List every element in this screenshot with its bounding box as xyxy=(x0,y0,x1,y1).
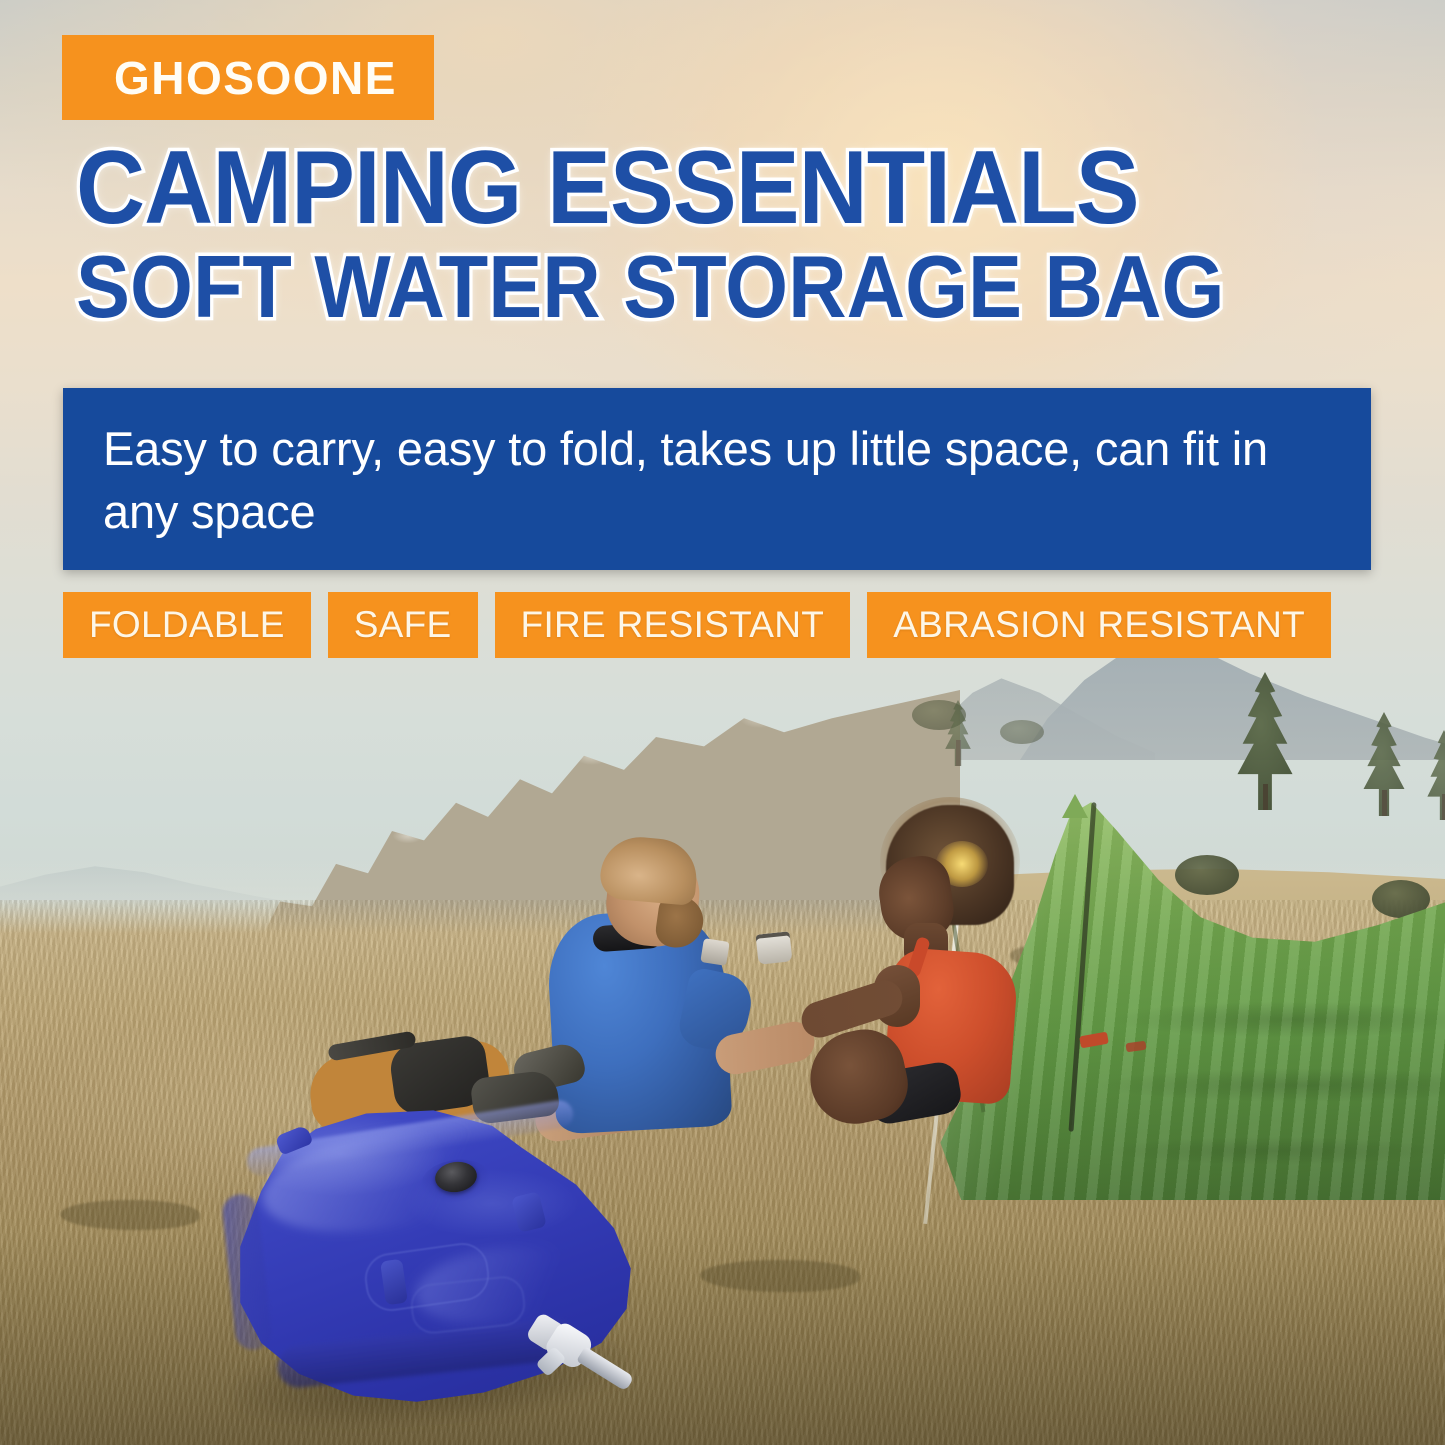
feature-tag-foldable: FOLDABLE xyxy=(63,592,311,658)
shrub xyxy=(1000,720,1044,744)
pine-trunk xyxy=(956,740,961,766)
camper-man xyxy=(545,840,755,1130)
page-title: CAMPING ESSENTIALS SOFT WATER STORAGE BA… xyxy=(76,140,1396,328)
feature-tag-label: FOLDABLE xyxy=(89,604,285,646)
feature-tag-label: ABRASION RESISTANT xyxy=(893,604,1305,646)
headline-line-2: SOFT WATER STORAGE BAG xyxy=(76,246,1290,329)
tent-apex xyxy=(1062,794,1088,818)
feature-tag-abrasion-resistant: ABRASION RESISTANT xyxy=(867,592,1331,658)
feature-tag-list: FOLDABLE SAFE FIRE RESISTANT ABRASION RE… xyxy=(63,592,1331,658)
feature-tag-label: FIRE RESISTANT xyxy=(521,604,825,646)
feature-tag-label: SAFE xyxy=(354,604,452,646)
headline-line-1: CAMPING ESSENTIALS xyxy=(76,140,1290,238)
feature-tag-safe: SAFE xyxy=(328,592,478,658)
product-marketing-poster: GHOSOONE CAMPING ESSENTIALS SOFT WATER S… xyxy=(0,0,1445,1445)
camp-mug xyxy=(700,938,729,966)
brand-badge: GHOSOONE xyxy=(62,35,434,120)
camper-woman xyxy=(858,805,1048,1135)
description-text: Easy to carry, easy to fold, takes up li… xyxy=(63,388,1371,543)
pine-tree xyxy=(938,700,978,766)
grass-tuft xyxy=(60,1200,200,1230)
camp-mug xyxy=(756,931,793,964)
brand-name: GHOSOONE xyxy=(62,51,397,105)
description-banner: Easy to carry, easy to fold, takes up li… xyxy=(63,388,1371,570)
feature-tag-fire-resistant: FIRE RESISTANT xyxy=(495,592,851,658)
man-hair xyxy=(598,834,699,906)
